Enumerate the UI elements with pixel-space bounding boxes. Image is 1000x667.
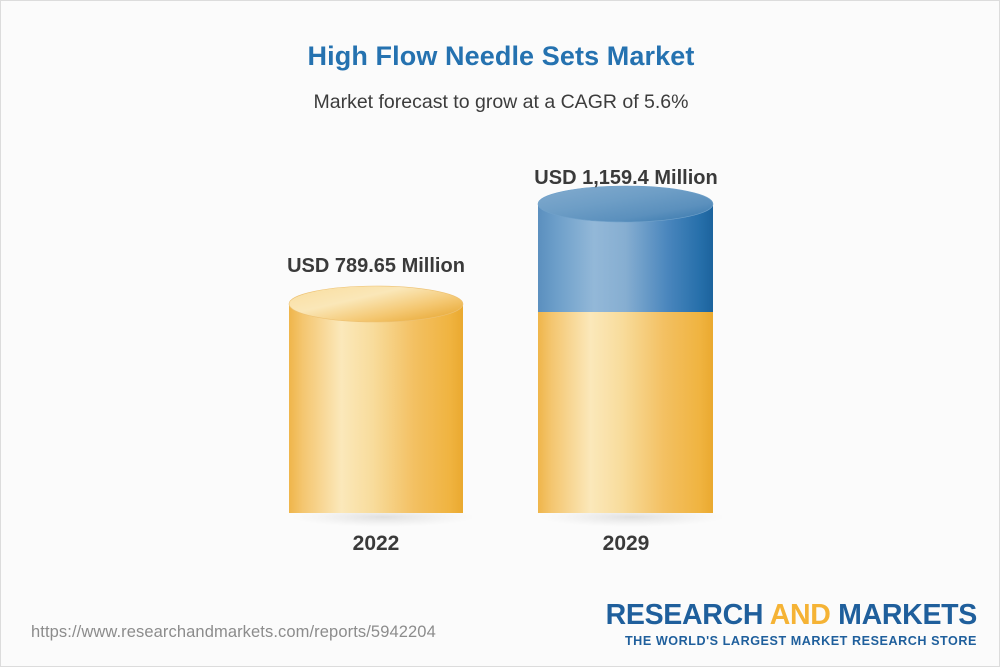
- bar-body-lower-2029: [538, 312, 713, 513]
- category-label-2022: 2022: [276, 532, 476, 556]
- chart-plot-area: USD 789.65 Million USD 1,159.4 Million 2…: [1, 1, 1000, 601]
- brand-logo-tagline: THE WORLD'S LARGEST MARKET RESEARCH STOR…: [606, 634, 977, 648]
- bar-cylinder-2022: [283, 279, 475, 531]
- bar-cylinder-2029-svg: [532, 179, 724, 531]
- brand-logo-markets: MARKETS: [831, 599, 977, 631]
- bar-top-cap-2022: [289, 286, 463, 322]
- bar-top-cap-2029: [538, 186, 713, 222]
- brand-logo-research: RESEARCH: [606, 599, 770, 631]
- bar-value-label-2022: USD 789.65 Million: [186, 255, 566, 278]
- chart-page: High Flow Needle Sets Market Market fore…: [0, 0, 1000, 667]
- brand-logo-and: AND: [770, 599, 831, 631]
- report-url[interactable]: https://www.researchandmarkets.com/repor…: [31, 623, 436, 642]
- bar-body-2022: [289, 304, 463, 513]
- bar-cylinder-2022-svg: [283, 279, 475, 531]
- bar-cylinder-2029: [532, 179, 724, 531]
- bar-value-label-2029: USD 1,159.4 Million: [436, 167, 816, 190]
- category-label-2029: 2029: [526, 532, 726, 556]
- brand-logo: RESEARCH AND MARKETS THE WORLD'S LARGEST…: [606, 601, 977, 648]
- brand-logo-wordmark: RESEARCH AND MARKETS: [606, 601, 977, 631]
